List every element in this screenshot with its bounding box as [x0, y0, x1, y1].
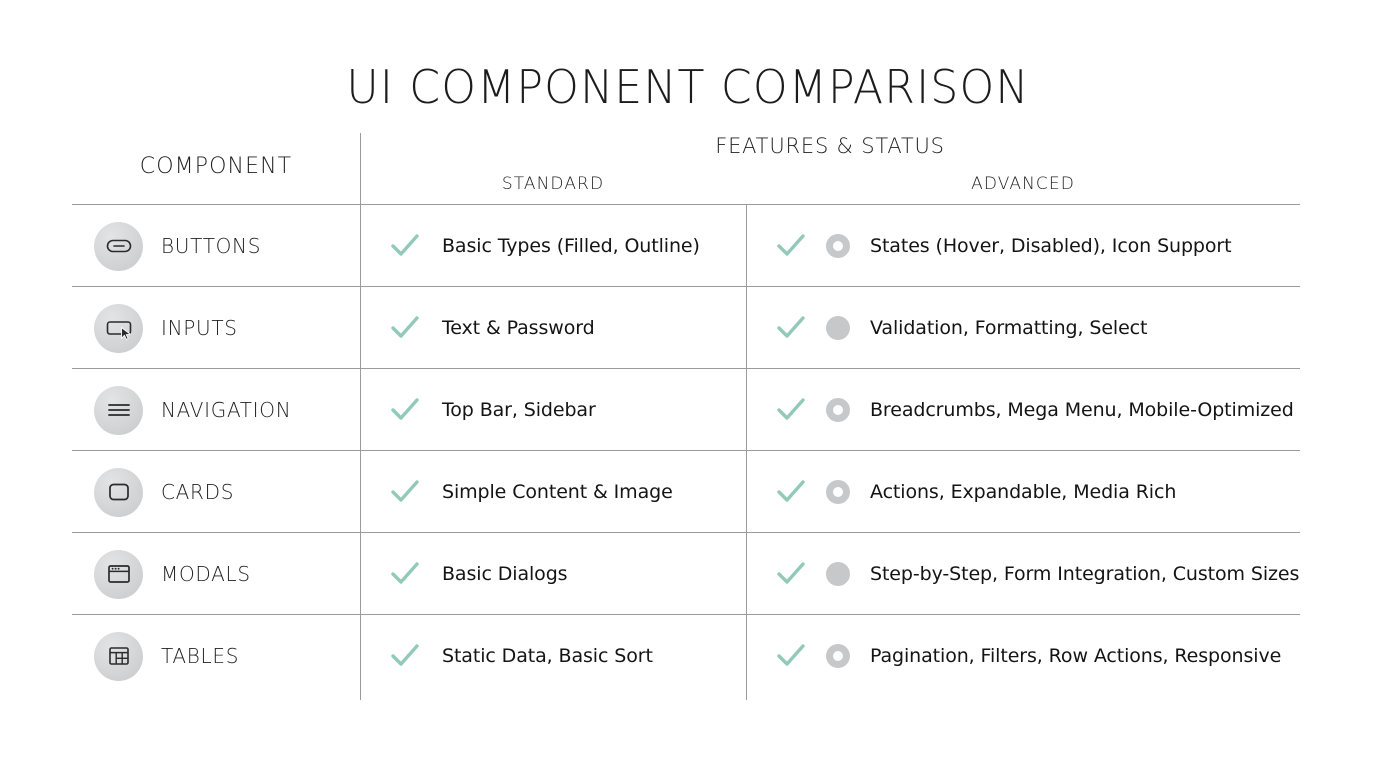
table-header: COMPONENT FEATURES & STATUS STANDARD ADV… — [72, 128, 1300, 204]
cell-component: BUTTONS — [72, 205, 360, 287]
page-title: UI COMPONENT COMPARISON — [28, 60, 1349, 114]
check-icon — [774, 229, 808, 263]
column-group-header-features-status: FEATURES & STATUS — [360, 134, 1300, 158]
comparison-table-page: UI COMPONENT COMPARISON COMPONENT FEATUR… — [0, 0, 1376, 768]
column-header-advanced: ADVANCED — [746, 174, 1300, 194]
component-label: MODALS — [161, 562, 251, 586]
status-badge — [826, 398, 850, 422]
standard-feature-text: Top Bar, Sidebar — [442, 399, 596, 421]
advanced-feature-text: Pagination, Filters, Row Actions, Respon… — [870, 645, 1281, 667]
check-icon — [388, 639, 422, 673]
cell-component: INPUTS — [72, 287, 360, 369]
advanced-feature-text: Step-by-Step, Form Integration, Custom S… — [870, 563, 1299, 585]
check-icon — [774, 311, 808, 345]
check-icon — [388, 475, 422, 509]
cell-advanced: Pagination, Filters, Row Actions, Respon… — [746, 615, 1300, 697]
component-label: INPUTS — [161, 316, 238, 340]
check-icon — [774, 639, 808, 673]
table-row[interactable]: TABLES Static Data, Basic Sort Paginatio… — [72, 615, 1300, 697]
table-row[interactable]: BUTTONS Basic Types (Filled, Outline) St… — [72, 205, 1300, 287]
cell-standard: Text & Password — [360, 287, 746, 369]
cell-standard: Basic Types (Filled, Outline) — [360, 205, 746, 287]
check-icon — [388, 229, 422, 263]
advanced-feature-text: Breadcrumbs, Mega Menu, Mobile-Optimized — [870, 399, 1294, 421]
cell-component: NAVIGATION — [72, 369, 360, 451]
column-header-component: COMPONENT — [72, 154, 360, 179]
status-badge — [826, 562, 850, 586]
component-label: NAVIGATION — [161, 398, 291, 422]
status-badge — [826, 480, 850, 504]
cell-component: CARDS — [72, 451, 360, 533]
component-label: TABLES — [161, 644, 239, 668]
button-pill-icon — [94, 222, 143, 271]
cell-standard: Basic Dialogs — [360, 533, 746, 615]
component-label: CARDS — [161, 480, 234, 504]
status-badge — [826, 644, 850, 668]
standard-feature-text: Simple Content & Image — [442, 481, 673, 503]
advanced-feature-text: Validation, Formatting, Select — [870, 317, 1147, 339]
check-icon — [388, 393, 422, 427]
hamburger-menu-icon — [94, 386, 143, 435]
cell-advanced: Breadcrumbs, Mega Menu, Mobile-Optimized — [746, 369, 1300, 451]
cell-advanced: States (Hover, Disabled), Icon Support — [746, 205, 1300, 287]
cell-standard: Top Bar, Sidebar — [360, 369, 746, 451]
status-badge — [826, 316, 850, 340]
cell-component: TABLES — [72, 615, 360, 697]
check-icon — [388, 557, 422, 591]
check-icon — [774, 393, 808, 427]
standard-feature-text: Basic Types (Filled, Outline) — [442, 235, 700, 257]
check-icon — [774, 557, 808, 591]
table-row[interactable]: CARDS Simple Content & Image Actions, Ex… — [72, 451, 1300, 533]
cell-advanced: Actions, Expandable, Media Rich — [746, 451, 1300, 533]
advanced-feature-text: Actions, Expandable, Media Rich — [870, 481, 1176, 503]
rounded-square-card-icon — [94, 468, 143, 517]
component-label: BUTTONS — [161, 234, 261, 258]
cell-standard: Simple Content & Image — [360, 451, 746, 533]
advanced-feature-text: States (Hover, Disabled), Icon Support — [870, 235, 1231, 257]
cell-standard: Static Data, Basic Sort — [360, 615, 746, 697]
standard-feature-text: Static Data, Basic Sort — [442, 645, 653, 667]
cell-advanced: Step-by-Step, Form Integration, Custom S… — [746, 533, 1300, 615]
standard-feature-text: Basic Dialogs — [442, 563, 567, 585]
table-row[interactable]: MODALS Basic Dialogs Step-by-Step, Form … — [72, 533, 1300, 615]
table-row[interactable]: NAVIGATION Top Bar, Sidebar Breadcrumbs,… — [72, 369, 1300, 451]
check-icon — [774, 475, 808, 509]
check-icon — [388, 311, 422, 345]
window-dialog-icon — [94, 550, 143, 599]
cell-component: MODALS — [72, 533, 360, 615]
input-field-cursor-icon — [94, 304, 143, 353]
column-header-standard: STANDARD — [360, 174, 746, 194]
table-row[interactable]: INPUTS Text & Password Validation, Forma… — [72, 287, 1300, 369]
table-grid-icon — [94, 632, 143, 681]
standard-feature-text: Text & Password — [442, 317, 595, 339]
cell-advanced: Validation, Formatting, Select — [746, 287, 1300, 369]
status-badge — [826, 234, 850, 258]
